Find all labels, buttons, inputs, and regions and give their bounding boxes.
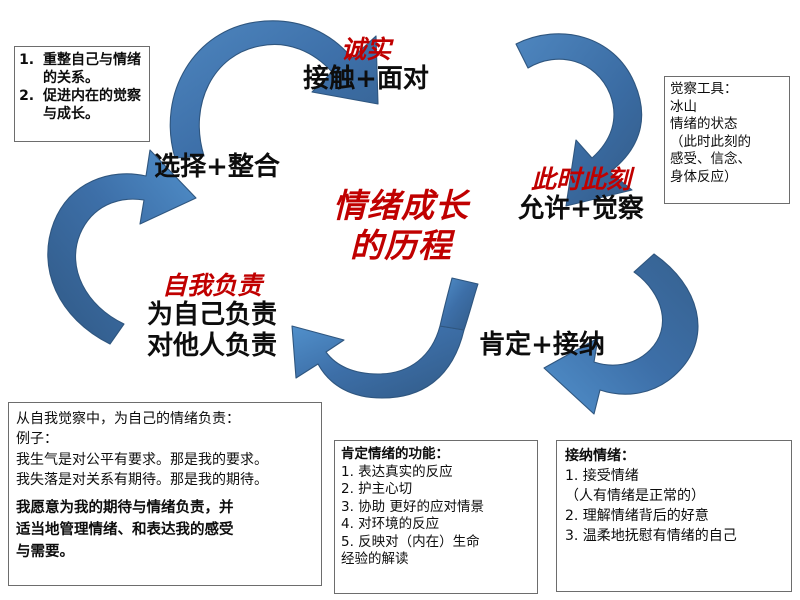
diagram-center-title: 情绪成长 的历程 (296, 186, 506, 265)
note-accept-emotion: 接纳情绪： 1. 接受情绪 （人有情绪是正常的） 2. 理解情绪背后的好意 3.… (556, 440, 792, 592)
note-goals-list: 重整自己与情绪的关系。 促进内在的觉察与成长。 (19, 52, 143, 124)
stage-desc-choose: 选择+整合 (122, 152, 312, 183)
note-goals: 重整自己与情绪的关系。 促进内在的觉察与成长。 (14, 46, 150, 142)
note-accept-line: 3. 温柔地抚慰有情绪的自己 (565, 527, 783, 547)
stage-title-honest: 诚实 (276, 36, 456, 64)
note-func-line: 5. 反映对（内在）生命 (341, 534, 531, 552)
note-awareness-tools: 觉察工具： 冰山 情绪的状态 （此时此刻的 感受、信念、 身体反应） (664, 76, 790, 204)
center-title-line2: 的历程 (296, 226, 506, 266)
spacer (16, 490, 314, 497)
center-title-line1: 情绪成长 (296, 186, 506, 226)
note-tools-line: 冰山 (670, 99, 786, 117)
stage-label-self-responsibility: 自我负责 为自己负责 对他人负责 (112, 272, 312, 362)
note-resp-line: 从自我觉察中，为自己的情绪负责： (16, 409, 314, 429)
stage-desc-self-responsibility-2: 对他人负责 (112, 331, 312, 362)
stage-desc-honest: 接触+面对 (276, 64, 456, 95)
stage-label-affirm: 肯定+接纳 (452, 330, 632, 361)
note-resp-bold-line: 我愿意为我的期待与情绪负责，并 (16, 497, 314, 519)
note-func-heading: 肯定情绪的功能： (341, 446, 531, 464)
note-func-line: 2. 护主心切 (341, 481, 531, 499)
slide-canvas: 诚实 接触+面对 此时此刻 允许+觉察 肯定+接纳 自我负责 为自己负责 对他人… (0, 0, 800, 600)
note-goals-item: 重整自己与情绪的关系。 (39, 52, 143, 88)
note-func-line: 3. 协助 更好的应对情景 (341, 499, 531, 517)
stage-label-honest: 诚实 接触+面对 (276, 36, 456, 95)
note-resp-line: 例子： (16, 429, 314, 449)
note-accept-heading: 接纳情绪： (565, 447, 783, 467)
note-accept-line: 1. 接受情绪 (565, 467, 783, 487)
arrow-bottom (292, 278, 478, 398)
stage-label-now: 此时此刻 允许+觉察 (486, 166, 676, 225)
note-tools-line: （此时此刻的 (670, 134, 786, 152)
stage-title-now: 此时此刻 (486, 166, 676, 194)
note-tools-line: 觉察工具： (670, 81, 786, 99)
note-resp-line: 我生气是对公平有要求。那是我的要求。 (16, 450, 314, 470)
note-tools-line: 身体反应） (670, 169, 786, 187)
stage-title-self-responsibility: 自我负责 (112, 272, 312, 300)
note-resp-line: 我失落是对关系有期待。那是我的期待。 (16, 470, 314, 490)
note-func-line: 经验的解读 (341, 551, 531, 569)
note-tools-line: 感受、信念、 (670, 151, 786, 169)
note-func-line: 4. 对环境的反应 (341, 516, 531, 534)
note-resp-bold-line: 适当地管理情绪、和表达我的感受 (16, 519, 314, 541)
stage-label-choose: 选择+整合 (122, 152, 312, 183)
stage-desc-self-responsibility-1: 为自己负责 (112, 300, 312, 331)
stage-desc-now: 允许+觉察 (486, 194, 676, 225)
note-resp-bold-line: 与需要。 (16, 541, 314, 563)
note-accept-line: 2. 理解情绪背后的好意 (565, 507, 783, 527)
note-func-line: 1. 表达真实的反应 (341, 464, 531, 482)
note-accept-line: （人有情绪是正常的） (565, 487, 783, 507)
note-affirm-function: 肯定情绪的功能： 1. 表达真实的反应 2. 护主心切 3. 协助 更好的应对情… (334, 440, 538, 594)
note-self-responsibility: 从自我觉察中，为自己的情绪负责： 例子： 我生气是对公平有要求。那是我的要求。 … (8, 402, 322, 586)
note-goals-item: 促进内在的觉察与成长。 (39, 88, 143, 124)
note-tools-line: 情绪的状态 (670, 116, 786, 134)
stage-desc-affirm: 肯定+接纳 (452, 330, 632, 361)
